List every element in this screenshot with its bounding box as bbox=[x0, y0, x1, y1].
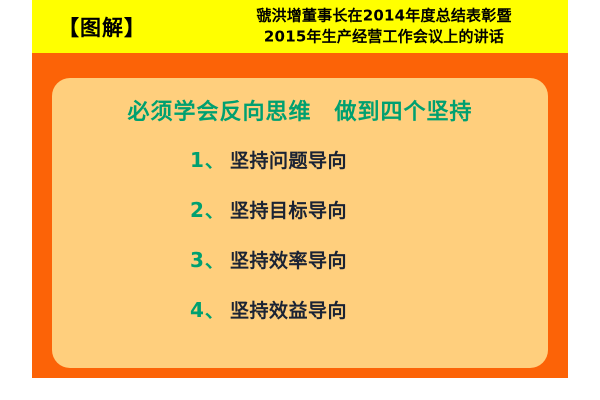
header-tag-label: 【图解】 bbox=[58, 12, 146, 42]
header-banner: 【图解】 虢洪增董事长在2014年度总结表彰暨 2015年生产经营工作会议上的讲… bbox=[32, 0, 568, 53]
list-item-number: 4 bbox=[190, 298, 204, 322]
list-item-number: 1 bbox=[190, 148, 204, 172]
list-item-separator: 、 bbox=[205, 246, 224, 273]
list-item-label: 坚持效率导向 bbox=[230, 246, 347, 273]
list-item-number: 3 bbox=[190, 248, 204, 272]
principles-list: 1 、 坚持问题导向 2 、 坚持目标导向 3 、 坚持效率导向 4 、 坚持效… bbox=[190, 146, 510, 346]
list-item-label: 坚持效益导向 bbox=[230, 296, 347, 323]
list-item-separator: 、 bbox=[205, 296, 224, 323]
list-item-separator: 、 bbox=[205, 196, 224, 223]
list-item: 2 、 坚持目标导向 bbox=[190, 196, 510, 246]
header-title: 虢洪增董事长在2014年度总结表彰暨 2015年生产经营工作会议上的讲话 bbox=[200, 5, 568, 48]
list-item-label: 坚持目标导向 bbox=[230, 196, 347, 223]
slide-canvas: 【图解】 虢洪增董事长在2014年度总结表彰暨 2015年生产经营工作会议上的讲… bbox=[0, 0, 600, 400]
content-card: 必须学会反向思维 做到四个坚持 1 、 坚持问题导向 2 、 坚持目标导向 3 … bbox=[52, 78, 548, 368]
list-item-separator: 、 bbox=[205, 146, 224, 173]
list-item: 1 、 坚持问题导向 bbox=[190, 146, 510, 196]
list-item-label: 坚持问题导向 bbox=[230, 146, 347, 173]
header-title-line-1: 虢洪增董事长在2014年度总结表彰暨 bbox=[200, 5, 568, 26]
list-item-number: 2 bbox=[190, 198, 204, 222]
header-title-line-2: 2015年生产经营工作会议上的讲话 bbox=[200, 27, 568, 48]
list-item: 4 、 坚持效益导向 bbox=[190, 296, 510, 346]
list-item: 3 、 坚持效率导向 bbox=[190, 246, 510, 296]
card-heading: 必须学会反向思维 做到四个坚持 bbox=[52, 94, 548, 126]
